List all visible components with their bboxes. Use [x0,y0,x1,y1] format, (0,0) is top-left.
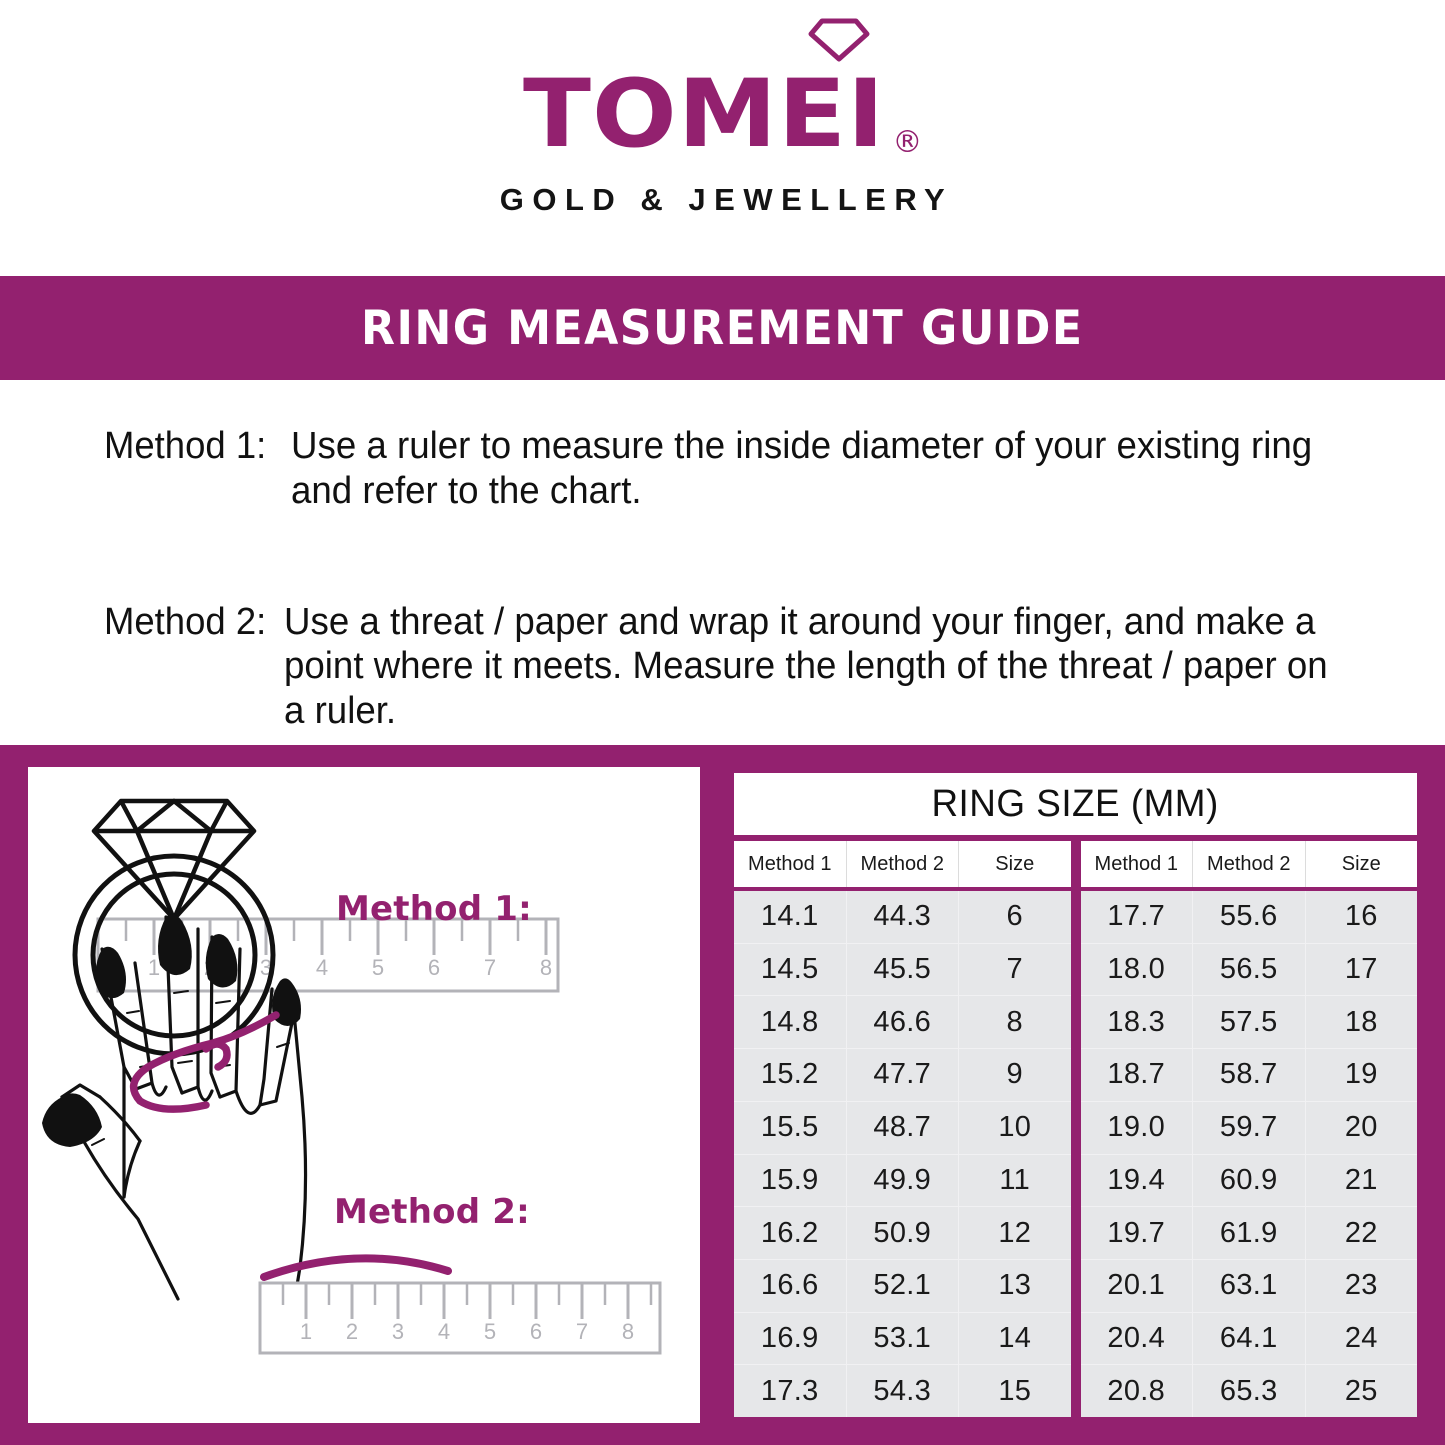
table-cell: 53.1 [847,1313,960,1365]
table-row: 17.755.616 [1081,891,1418,944]
table-cell: 19.4 [1081,1155,1194,1207]
bottom-section-frame: 1 2 3 4 5 6 7 8 [0,745,1445,1445]
table-cell: 12 [959,1207,1071,1259]
svg-text:5: 5 [372,955,384,980]
table-cell: 61.9 [1193,1207,1306,1259]
table-cell: 54.3 [847,1365,960,1417]
table-cell: 14.1 [734,891,847,943]
table-row: 18.357.518 [1081,996,1418,1049]
svg-text:2: 2 [346,1319,358,1344]
table-cell: 20.4 [1081,1313,1194,1365]
column-header-method-2: Method 2 [847,841,960,887]
table-row: 20.464.124 [1081,1313,1418,1366]
table-cell: 23 [1306,1260,1418,1312]
table-rows-left: 14.144.3614.545.5714.846.6815.247.7915.5… [734,887,1071,1417]
table-cell: 18.3 [1081,996,1194,1048]
table-cell: 15.2 [734,1049,847,1101]
table-cell: 55.6 [1193,891,1306,943]
svg-text:8: 8 [622,1319,634,1344]
table-cell: 13 [959,1260,1071,1312]
table-cell: 17 [1306,944,1418,996]
table-cell: 20 [1306,1102,1418,1154]
method-2-illustration-label: Method 2: [334,1192,530,1232]
table-row: 14.144.36 [734,891,1071,944]
column-header-method-1: Method 1 [1081,841,1194,887]
table-cell: 49.9 [847,1155,960,1207]
svg-text:3: 3 [392,1319,404,1344]
ring-size-table-title: RING SIZE (MM) [932,783,1219,826]
table-cell: 19 [1306,1049,1418,1101]
table-cell: 14.5 [734,944,847,996]
ring-size-table-left-half: Method 1 Method 2 Size 14.144.3614.545.5… [734,841,1071,1417]
ring-size-table-title-row: RING SIZE (MM) [734,773,1417,835]
table-cell: 20.1 [1081,1260,1194,1312]
table-row: 15.548.710 [734,1102,1071,1155]
page-title: RING MEASUREMENT GUIDE [361,301,1083,356]
thread-measured-icon [264,1258,448,1277]
methods-description-block: Method 1: Use a ruler to measure the ins… [104,424,1366,734]
svg-text:6: 6 [428,955,440,980]
table-cell: 19.0 [1081,1102,1194,1154]
table-cell: 17.7 [1081,891,1194,943]
ring-measurement-guide-page: TOMEI ® GOLD & JEWELLERY RING MEASUREMEN… [0,0,1445,1445]
svg-text:4: 4 [316,955,328,980]
table-cell: 52.1 [847,1260,960,1312]
table-cell: 14 [959,1313,1071,1365]
svg-text:6: 6 [530,1319,542,1344]
ring-size-table-panel: RING SIZE (MM) Method 1 Method 2 Size 14… [728,767,1423,1423]
table-cell: 11 [959,1155,1071,1207]
table-cell: 17.3 [734,1365,847,1417]
brand-logo: TOMEI ® GOLD & JEWELLERY [0,0,1445,272]
table-cell: 57.5 [1193,996,1306,1048]
table-cell: 16.9 [734,1313,847,1365]
method-1-illustration-label: Method 1: [336,889,532,929]
table-cell: 9 [959,1049,1071,1101]
table-cell: 16.2 [734,1207,847,1259]
table-row: 16.250.912 [734,1207,1071,1260]
table-cell: 20.8 [1081,1365,1194,1417]
method-2-description: Method 2: Use a threat / paper and wrap … [104,600,1366,734]
brand-wordmark: TOMEI [523,68,885,162]
svg-text:7: 7 [576,1319,588,1344]
table-row: 14.846.68 [734,996,1071,1049]
table-cell: 18 [1306,996,1418,1048]
method-1-label: Method 1: [104,424,284,469]
table-row: 14.545.57 [734,944,1071,997]
column-header-method-1: Method 1 [734,841,847,887]
table-cell: 46.6 [847,996,960,1048]
column-header-size: Size [959,841,1071,887]
ring-size-table-body: Method 1 Method 2 Size 14.144.3614.545.5… [734,841,1417,1417]
table-cell: 18.0 [1081,944,1194,996]
brand-tagline: GOLD & JEWELLERY [492,182,953,218]
table-row: 18.056.517 [1081,944,1418,997]
table-rows-right: 17.755.61618.056.51718.357.51818.758.719… [1081,887,1418,1417]
table-cell: 64.1 [1193,1313,1306,1365]
svg-text:7: 7 [484,955,496,980]
ring-diamond-icon [94,801,254,919]
illustration-panel: 1 2 3 4 5 6 7 8 [28,767,700,1423]
table-row: 19.460.921 [1081,1155,1418,1208]
diamond-icon [808,18,870,62]
table-cell: 8 [959,996,1071,1048]
table-cell: 19.7 [1081,1207,1194,1259]
method-2-text: Use a threat / paper and wrap it around … [284,600,1328,734]
table-header-row-left: Method 1 Method 2 Size [734,841,1071,887]
method-1-description: Method 1: Use a ruler to measure the ins… [104,424,1366,514]
logo-wordmark-row: TOMEI ® [523,54,923,162]
table-cell: 7 [959,944,1071,996]
table-cell: 15 [959,1365,1071,1417]
table-row: 17.354.315 [734,1365,1071,1417]
table-row: 15.247.79 [734,1049,1071,1102]
table-cell: 15.9 [734,1155,847,1207]
svg-text:8: 8 [540,955,552,980]
table-row: 20.163.123 [1081,1260,1418,1313]
table-cell: 15.5 [734,1102,847,1154]
table-cell: 59.7 [1193,1102,1306,1154]
method-2-label: Method 2: [104,600,277,645]
table-cell: 16 [1306,891,1418,943]
table-cell: 60.9 [1193,1155,1306,1207]
table-cell: 6 [959,891,1071,943]
measurement-illustrations: 1 2 3 4 5 6 7 8 [28,767,700,1423]
table-cell: 10 [959,1102,1071,1154]
table-cell: 25 [1306,1365,1418,1417]
ring-size-table-right-half: Method 1 Method 2 Size 17.755.61618.056.… [1081,841,1418,1417]
ruler-method2: 1 2 3 4 5 6 7 8 [260,1283,660,1353]
table-cell: 56.5 [1193,944,1306,996]
column-header-size: Size [1306,841,1418,887]
table-header-row-right: Method 1 Method 2 Size [1081,841,1418,887]
table-cell: 63.1 [1193,1260,1306,1312]
table-row: 18.758.719 [1081,1049,1418,1102]
table-row: 20.865.325 [1081,1365,1418,1417]
registered-trademark-icon: ® [892,128,922,158]
svg-text:1: 1 [300,1319,312,1344]
table-cell: 14.8 [734,996,847,1048]
table-cell: 47.7 [847,1049,960,1101]
table-cell: 44.3 [847,891,960,943]
svg-text:5: 5 [484,1319,496,1344]
table-row: 19.761.922 [1081,1207,1418,1260]
table-row: 16.953.114 [734,1313,1071,1366]
table-cell: 21 [1306,1155,1418,1207]
table-cell: 65.3 [1193,1365,1306,1417]
table-row: 16.652.113 [734,1260,1071,1313]
page-title-banner: RING MEASUREMENT GUIDE [0,276,1445,380]
svg-text:1: 1 [148,955,160,980]
svg-text:4: 4 [438,1319,450,1344]
table-cell: 45.5 [847,944,960,996]
table-cell: 50.9 [847,1207,960,1259]
table-cell: 16.6 [734,1260,847,1312]
table-cell: 18.7 [1081,1049,1194,1101]
method-1-text: Use a ruler to measure the inside diamet… [291,424,1328,514]
table-cell: 22 [1306,1207,1418,1259]
table-row: 15.949.911 [734,1155,1071,1208]
table-cell: 58.7 [1193,1049,1306,1101]
table-cell: 48.7 [847,1102,960,1154]
column-header-method-2: Method 2 [1193,841,1306,887]
table-row: 19.059.720 [1081,1102,1418,1155]
table-cell: 24 [1306,1313,1418,1365]
